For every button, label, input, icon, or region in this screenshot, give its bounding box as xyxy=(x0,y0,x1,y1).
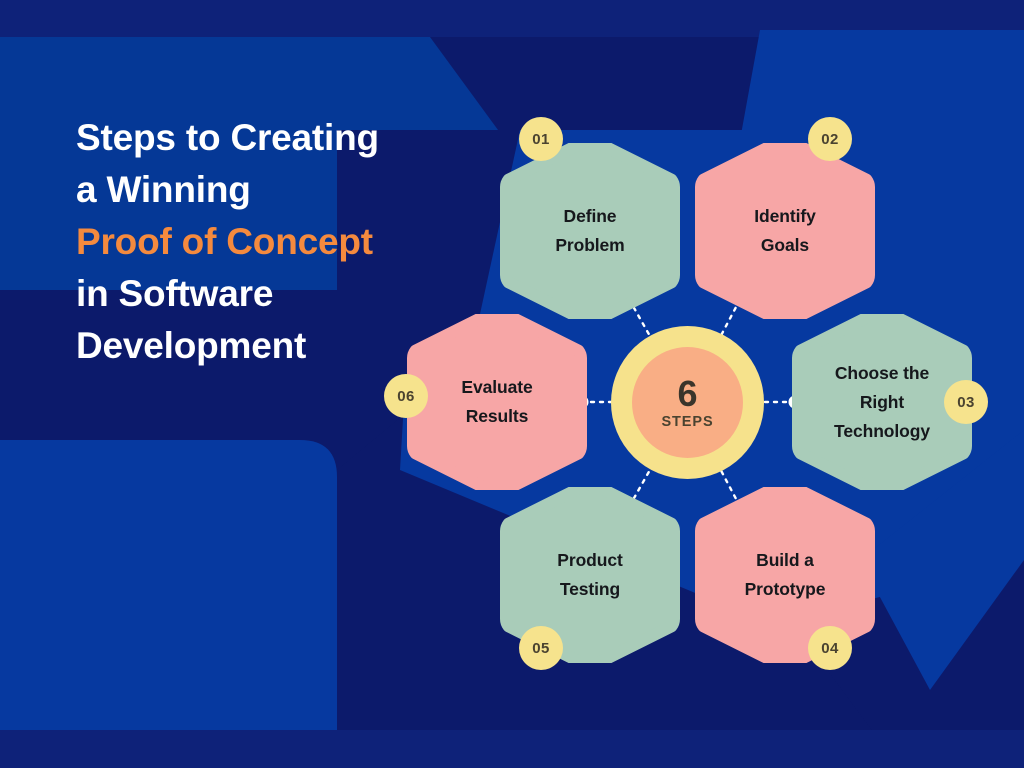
step-badge-02[interactable]: 02 xyxy=(808,117,852,161)
step-label-02-line1: Identify xyxy=(754,202,815,231)
title-line-5: Development xyxy=(76,320,476,372)
step-badge-01[interactable]: 01 xyxy=(519,117,563,161)
step-label-01-line2: Problem xyxy=(555,231,624,260)
step-node-02[interactable]: Identify Goals xyxy=(689,143,881,319)
step-badge-03[interactable]: 03 xyxy=(944,380,988,424)
step-label-04-line2: Prototype xyxy=(745,575,826,604)
step-label-01-line1: Define xyxy=(555,202,624,231)
step-label-03-line2: Right xyxy=(834,388,930,417)
step-label-05: Product Testing xyxy=(545,546,634,604)
center-hub-number: 6 xyxy=(677,376,697,412)
center-hub-inner: 6 STEPS xyxy=(632,347,743,458)
step-label-06-line1: Evaluate xyxy=(461,373,532,402)
step-label-06-line2: Results xyxy=(461,402,532,431)
step-label-01: Define Problem xyxy=(543,202,636,260)
step-label-05-line2: Testing xyxy=(557,575,622,604)
step-badge-06[interactable]: 06 xyxy=(384,374,428,418)
title-line-1: Steps to Creating xyxy=(76,112,476,164)
step-badge-05[interactable]: 05 xyxy=(519,626,563,670)
center-hub-caption: STEPS xyxy=(661,414,713,430)
step-label-02: Identify Goals xyxy=(742,202,827,260)
step-label-05-line1: Product xyxy=(557,546,622,575)
step-node-01[interactable]: Define Problem xyxy=(494,143,686,319)
page-title: Steps to Creating a Winning Proof of Con… xyxy=(76,112,476,372)
step-label-03: Choose the Right Technology xyxy=(822,359,942,446)
step-node-04[interactable]: Build a Prototype xyxy=(689,487,881,663)
title-line-4: in Software xyxy=(76,268,476,320)
step-label-03-line3: Technology xyxy=(834,417,930,446)
center-hub[interactable]: 6 STEPS xyxy=(611,326,764,479)
step-label-06: Evaluate Results xyxy=(449,373,544,431)
step-label-02-line2: Goals xyxy=(754,231,815,260)
infographic-canvas: Steps to Creating a Winning Proof of Con… xyxy=(0,0,1024,768)
step-label-03-line1: Choose the xyxy=(834,359,930,388)
step-label-04: Build a Prototype xyxy=(733,546,838,604)
title-line-2: a Winning xyxy=(76,164,476,216)
step-badge-04[interactable]: 04 xyxy=(808,626,852,670)
title-line-3-accent: Proof of Concept xyxy=(76,216,476,268)
step-label-04-line1: Build a xyxy=(745,546,826,575)
